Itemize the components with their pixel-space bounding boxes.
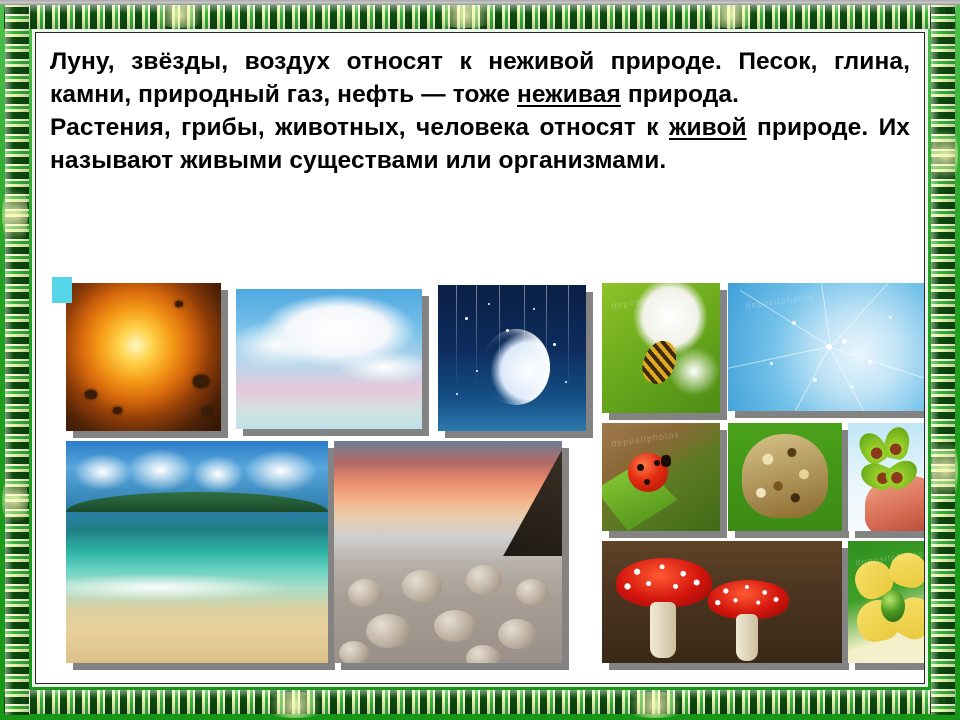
beetle-shape <box>881 590 905 622</box>
clover-photo[interactable] <box>848 423 925 531</box>
paragraph-nonliving: Луну, звёзды, воздух относят к неживой п… <box>50 45 910 111</box>
mushrooms-grass-photo[interactable] <box>728 423 842 531</box>
keyword-nonliving: неживая <box>517 81 621 108</box>
crescent-moon-shape <box>482 329 550 405</box>
spiderweb-photo[interactable]: depositphotos <box>728 283 925 411</box>
ornament-pattern-right <box>931 5 955 715</box>
frame-border-left <box>5 5 29 715</box>
frame-border-bottom <box>4 690 956 714</box>
presentation-slide: Луну, звёзды, воздух относят к неживой п… <box>0 0 960 720</box>
bee-flower-photo[interactable]: depositphotos <box>602 283 720 413</box>
paragraph1-text-part2: природа. <box>621 81 739 108</box>
sun-photo[interactable] <box>66 283 221 431</box>
paragraph1-text-part1: Луну, звёзды, воздух относят к неживой п… <box>50 48 910 108</box>
stones-photo[interactable] <box>334 441 562 663</box>
bee-shape <box>637 336 682 388</box>
watermark-text: depositphotos <box>611 429 681 449</box>
ornament-pattern-left <box>5 5 29 715</box>
moon-stars-photo[interactable] <box>438 285 586 431</box>
paragraph-living: Растения, грибы, животных, человека отно… <box>50 111 910 177</box>
frame-border-top <box>4 5 956 29</box>
amanita-photo[interactable] <box>602 541 842 663</box>
clouds-photo[interactable] <box>236 289 422 429</box>
ornament-pattern-top <box>4 5 956 29</box>
photo-collage: depositphotos depositphotos <box>50 271 912 677</box>
ladybug-photo[interactable]: depositphotos <box>602 423 720 531</box>
sea-beach-photo[interactable] <box>66 441 328 663</box>
content-panel: Луну, звёзды, воздух относят к неживой п… <box>35 32 925 684</box>
ornament-pattern-bottom <box>4 690 956 714</box>
beetle-photo[interactable]: depositphotos <box>848 541 925 663</box>
paragraph2-text-part1: Растения, грибы, животных, человека отно… <box>50 114 669 141</box>
cyan-sliver-decoration <box>52 277 72 303</box>
keyword-living: живой <box>669 114 747 141</box>
top-edge-strip <box>0 0 960 5</box>
watermark-text: depositphotos <box>611 291 681 311</box>
frame-border-right <box>931 5 955 715</box>
watermark-text: depositphotos <box>745 291 815 311</box>
lesson-text-block: Луну, звёзды, воздух относят к неживой п… <box>36 33 924 177</box>
